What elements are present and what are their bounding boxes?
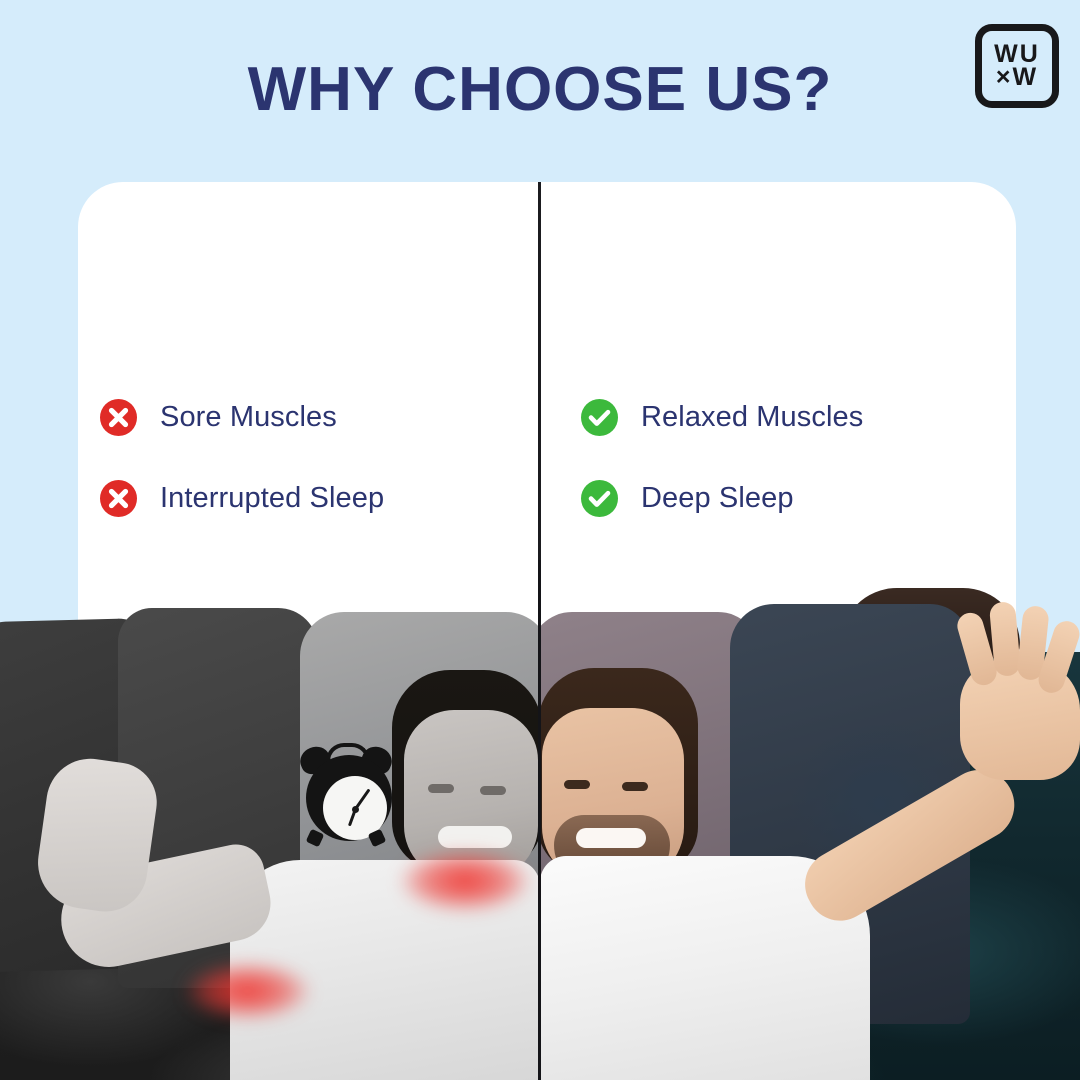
cross-icon <box>100 399 137 436</box>
page-title: WHY CHOOSE US? <box>0 54 1080 125</box>
comparison-card: Sore Muscles Interrupted Sleep Takes Lon… <box>78 182 1016 622</box>
man-open-hand <box>960 660 1080 780</box>
list-item-label: Sore Muscles <box>160 399 337 437</box>
list-item: Sore Muscles <box>100 399 530 437</box>
mouth <box>438 826 512 848</box>
photo-split-seam <box>538 560 541 1080</box>
list-item-label: Interrupted Sleep <box>160 480 384 518</box>
header: WHY CHOOSE US? WU ×W <box>0 0 1080 165</box>
eye <box>428 784 454 793</box>
cross-icon <box>100 480 137 517</box>
mouth-smile <box>576 828 646 848</box>
photo-half-after <box>540 560 1080 1080</box>
check-icon <box>581 399 618 436</box>
before-after-photo <box>0 560 1080 1080</box>
pain-glow-elbow <box>185 962 310 1020</box>
list-item: Interrupted Sleep <box>100 480 530 518</box>
list-item: Relaxed Muscles <box>581 399 1011 437</box>
list-item-label: Relaxed Muscles <box>641 399 863 437</box>
list-item-label: Deep Sleep <box>641 480 794 518</box>
finger <box>989 601 1021 677</box>
list-item: Deep Sleep <box>581 480 1011 518</box>
check-icon <box>581 480 618 517</box>
pain-glow-shoulder <box>400 850 530 912</box>
clock-center-pin <box>352 806 359 813</box>
wuxw-logo: WU ×W <box>975 24 1059 108</box>
eye <box>564 780 590 789</box>
alarm-clock <box>300 745 398 843</box>
clock-body <box>306 755 392 841</box>
positive-column: Relaxed Muscles Deep Sleep Puts You to S… <box>541 182 1001 622</box>
eye <box>480 786 506 795</box>
logo-line-2: ×W <box>996 66 1038 89</box>
eye <box>622 782 648 791</box>
negative-column: Sore Muscles Interrupted Sleep Takes Lon… <box>78 182 538 622</box>
